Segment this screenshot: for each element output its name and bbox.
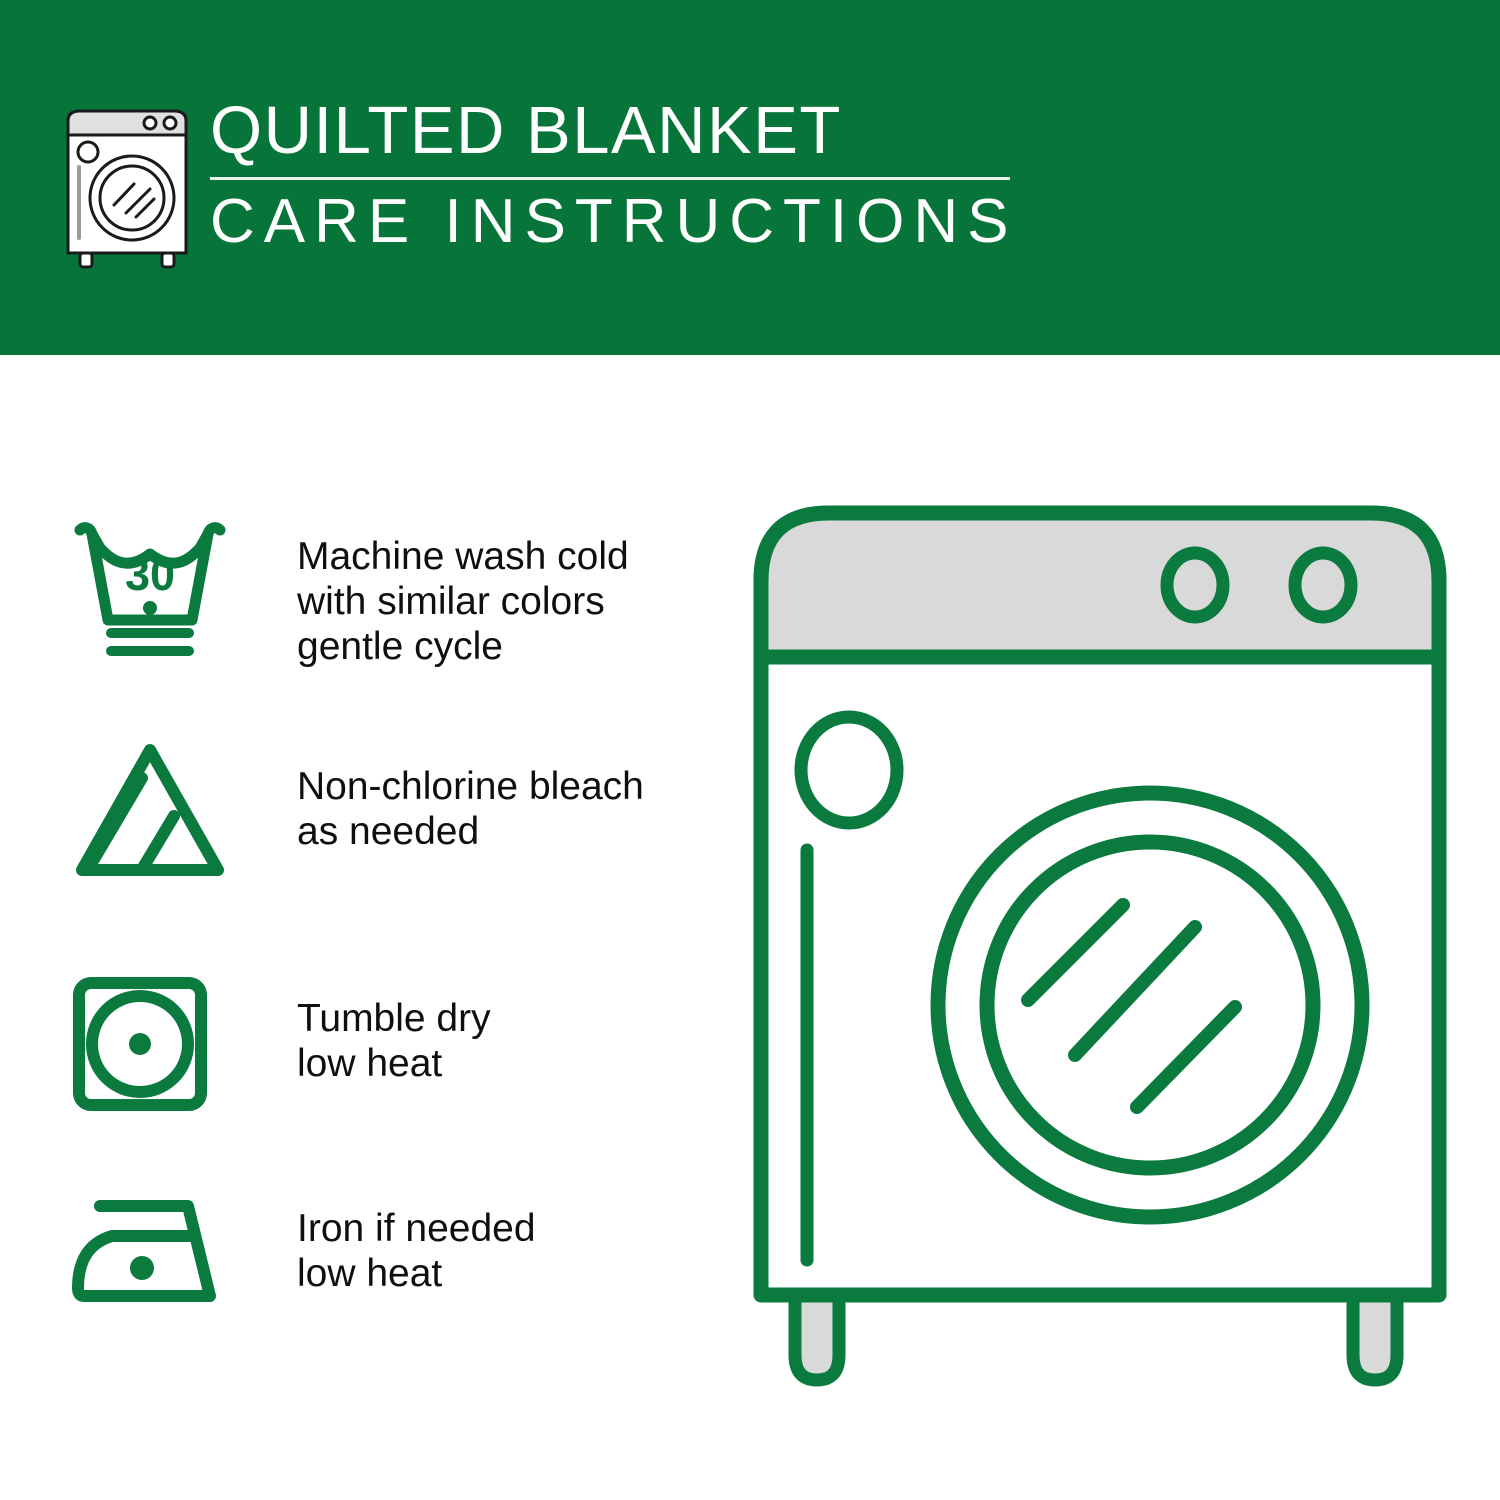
header-banner: QUILTED BLANKET CARE INSTRUCTIONS [0, 0, 1500, 355]
control-knob-2[interactable] [1295, 553, 1351, 617]
title-divider [210, 177, 1010, 180]
care-text-bleach: Non-chlorine bleach as needed [245, 730, 710, 854]
door-inner-ring [987, 842, 1313, 1168]
non-chlorine-bleach-triangle-icon [70, 738, 230, 883]
tumble-dry-low-icon [70, 974, 210, 1114]
care-text-line: Tumble dry [297, 996, 710, 1041]
washing-machine-icon [62, 105, 192, 270]
care-text-line: low heat [297, 1251, 710, 1296]
care-row-wash: 30 Machine wash cold with similar colors… [70, 512, 710, 730]
care-symbol-tumble-dry [70, 966, 245, 1114]
page-title: QUILTED BLANKET [210, 95, 1017, 167]
page-subtitle: CARE INSTRUCTIONS [210, 189, 1017, 255]
care-row-tumble-dry: Tumble dry low heat [70, 966, 710, 1176]
care-text-iron: Iron if needed low heat [245, 1176, 710, 1296]
indicator-dial [801, 717, 897, 823]
care-text-line: Non-chlorine bleach [297, 764, 710, 809]
care-symbol-iron [70, 1176, 245, 1314]
care-text-line: gentle cycle [297, 624, 710, 669]
washing-machine-illustration [745, 495, 1455, 1420]
care-text-line: with similar colors [297, 579, 710, 624]
wash-temperature-label: 30 [125, 549, 175, 600]
care-instruction-list: 30 Machine wash cold with similar colors… [70, 512, 710, 1356]
wash-tub-30-gentle-icon: 30 [70, 520, 230, 660]
care-text-wash: Machine wash cold with similar colors ge… [245, 512, 710, 669]
iron-low-heat-icon [70, 1184, 230, 1314]
care-text-line: Iron if needed [297, 1206, 710, 1251]
care-text-line: as needed [297, 809, 710, 854]
header-content: QUILTED BLANKET CARE INSTRUCTIONS [62, 95, 1017, 270]
care-text-tumble-dry: Tumble dry low heat [245, 966, 710, 1086]
care-row-bleach: Non-chlorine bleach as needed [70, 730, 710, 966]
care-row-iron: Iron if needed low heat [70, 1176, 710, 1356]
care-symbol-wash: 30 [70, 512, 245, 660]
care-symbol-bleach [70, 730, 245, 883]
care-text-line: low heat [297, 1041, 710, 1086]
control-knob-1[interactable] [1167, 553, 1223, 617]
machine-svg [745, 495, 1455, 1420]
header-title-group: QUILTED BLANKET CARE INSTRUCTIONS [210, 95, 1017, 255]
care-text-line: Machine wash cold [297, 534, 710, 579]
